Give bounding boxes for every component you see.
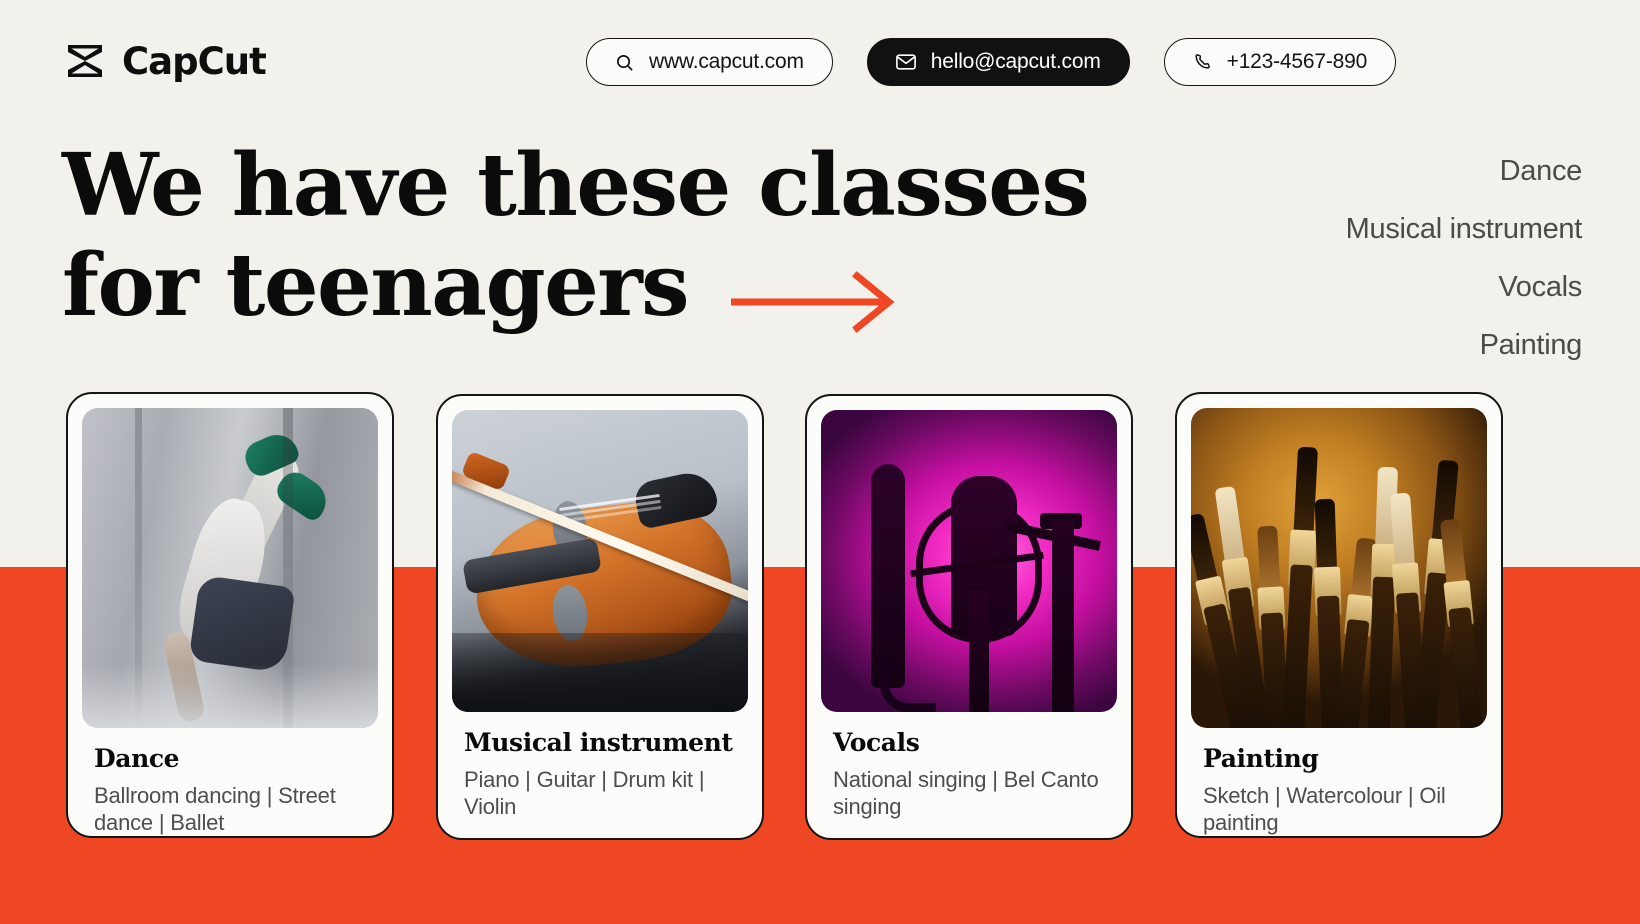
card-description-painting: Sketch | Watercolour | Oil painting <box>1203 782 1475 836</box>
violin-and-bow-photo <box>452 410 748 712</box>
breakdancer-handstand-photo <box>82 408 378 728</box>
class-card-painting[interactable]: Painting Sketch | Watercolour | Oil pain… <box>1175 392 1503 838</box>
card-title-painting: Painting <box>1203 744 1475 773</box>
class-card-dance[interactable]: Dance Ballroom dancing | Street dance | … <box>66 392 394 838</box>
card-body-dance: Dance Ballroom dancing | Street dance | … <box>82 728 378 836</box>
card-image-dance <box>82 408 378 728</box>
card-description-dance: Ballroom dancing | Street dance | Ballet <box>94 782 366 836</box>
card-image-vocals <box>821 410 1117 712</box>
studio-microphone-magenta-photo <box>821 410 1117 712</box>
card-body-painting: Painting Sketch | Watercolour | Oil pain… <box>1191 728 1487 836</box>
card-title-musical-instrument: Musical instrument <box>464 728 736 757</box>
class-card-grid: Dance Ballroom dancing | Street dance | … <box>0 0 1640 924</box>
card-image-painting <box>1191 408 1487 728</box>
class-card-vocals[interactable]: Vocals National singing | Bel Canto sing… <box>805 394 1133 840</box>
card-body-musical-instrument: Musical instrument Piano | Guitar | Drum… <box>452 712 748 820</box>
card-body-vocals: Vocals National singing | Bel Canto sing… <box>821 712 1117 820</box>
class-card-musical-instrument[interactable]: Musical instrument Piano | Guitar | Drum… <box>436 394 764 840</box>
card-title-vocals: Vocals <box>833 728 1105 757</box>
card-description-vocals: National singing | Bel Canto singing <box>833 766 1105 820</box>
card-title-dance: Dance <box>94 744 366 773</box>
card-description-musical-instrument: Piano | Guitar | Drum kit | Violin <box>464 766 736 820</box>
paint-brushes-amber-photo <box>1191 408 1487 728</box>
card-image-musical-instrument <box>452 410 748 712</box>
